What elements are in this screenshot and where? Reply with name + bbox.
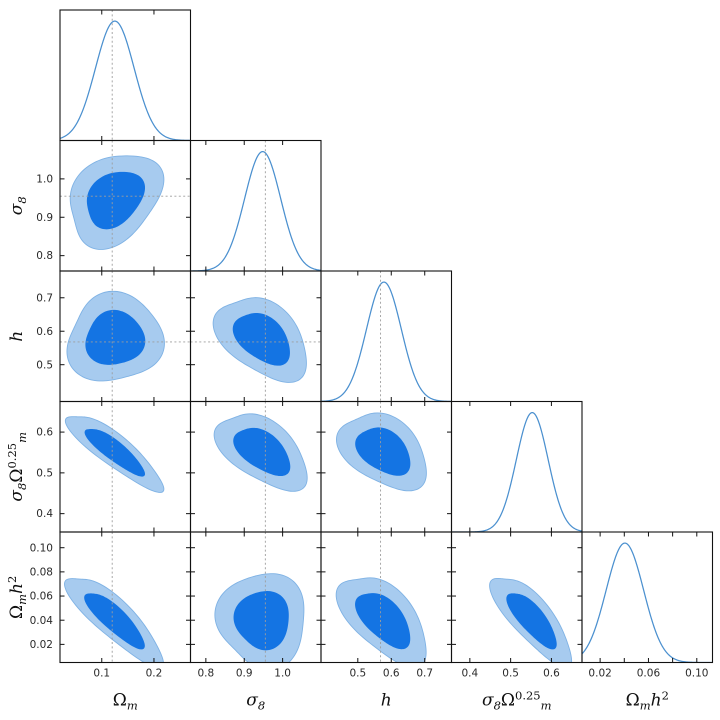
math-part: Ω bbox=[626, 691, 640, 711]
math-part: 8 bbox=[258, 699, 265, 713]
x-tick-label: 0.8 bbox=[198, 668, 215, 680]
math-part: m bbox=[640, 699, 651, 713]
x-tick-label: 0.9 bbox=[236, 668, 253, 680]
y-tick-label: 0.04 bbox=[30, 615, 54, 627]
y-tick-label: 0.9 bbox=[36, 212, 53, 224]
math-part: 2 bbox=[5, 576, 19, 583]
x-tick-label: 0.1 bbox=[93, 668, 110, 680]
math-part: h bbox=[7, 331, 27, 342]
x-tick-label: 1.0 bbox=[274, 668, 291, 680]
x-tick-label: 0.5 bbox=[502, 668, 519, 680]
y-tick-label: 0.5 bbox=[36, 467, 53, 479]
y-tick-label: 0.8 bbox=[36, 250, 53, 262]
math-part: σ bbox=[482, 691, 494, 711]
y-tick-label: 1.0 bbox=[36, 173, 53, 185]
math-part: 0.25 bbox=[515, 689, 541, 703]
math-part: Ω bbox=[7, 605, 27, 619]
y-tick-label: 0.5 bbox=[36, 359, 53, 371]
x-tick-label: 0.7 bbox=[416, 668, 433, 680]
math-part: σ bbox=[7, 490, 27, 502]
math-part: Ω bbox=[113, 691, 127, 711]
y-tick-label: 0.10 bbox=[30, 542, 53, 554]
math-part: h bbox=[651, 691, 662, 711]
corner-plot-figure: 0.80.91.00.50.60.70.40.50.60.10.20.020.0… bbox=[0, 0, 720, 720]
math-part: Ω bbox=[501, 691, 515, 711]
y-tick-label: 0.7 bbox=[36, 292, 53, 304]
math-part: m bbox=[15, 432, 29, 443]
y-tick-label: 0.06 bbox=[30, 591, 54, 603]
x-tick-label: 0.4 bbox=[462, 668, 479, 680]
x-tick-label: 0.5 bbox=[349, 668, 366, 680]
y-axis-title-h: h bbox=[7, 331, 27, 342]
y-tick-label: 0.6 bbox=[36, 427, 53, 439]
math-part: 2 bbox=[662, 689, 669, 703]
y-tick-label: 0.4 bbox=[36, 508, 53, 520]
math-part: 0.25 bbox=[5, 443, 19, 469]
math-part: 8 bbox=[15, 196, 29, 203]
corner-plot-canvas: 0.80.91.00.50.60.70.40.50.60.10.20.020.0… bbox=[0, 0, 720, 720]
y-tick-label: 0.02 bbox=[30, 639, 53, 651]
x-tick-label: 0.6 bbox=[543, 668, 560, 680]
math-part: m bbox=[541, 699, 552, 713]
x-tick-label: 0.10 bbox=[685, 668, 708, 680]
math-part: σ bbox=[246, 691, 258, 711]
x-axis-title-h: h bbox=[381, 691, 392, 711]
math-part: σ bbox=[7, 203, 27, 215]
x-tick-label: 0.2 bbox=[146, 668, 163, 680]
x-tick-label: 0.06 bbox=[637, 668, 661, 680]
y-tick-label: 0.08 bbox=[30, 566, 53, 578]
math-part: Ω bbox=[7, 469, 27, 483]
math-part: 8 bbox=[494, 699, 501, 713]
math-part: m bbox=[127, 699, 138, 713]
math-part: 8 bbox=[15, 483, 29, 490]
x-tick-label: 0.6 bbox=[383, 668, 400, 680]
math-part: h bbox=[7, 583, 27, 594]
math-part: h bbox=[381, 691, 392, 711]
y-tick-label: 0.6 bbox=[36, 326, 53, 338]
math-part: m bbox=[15, 594, 29, 605]
x-tick-label: 0.02 bbox=[588, 668, 611, 680]
